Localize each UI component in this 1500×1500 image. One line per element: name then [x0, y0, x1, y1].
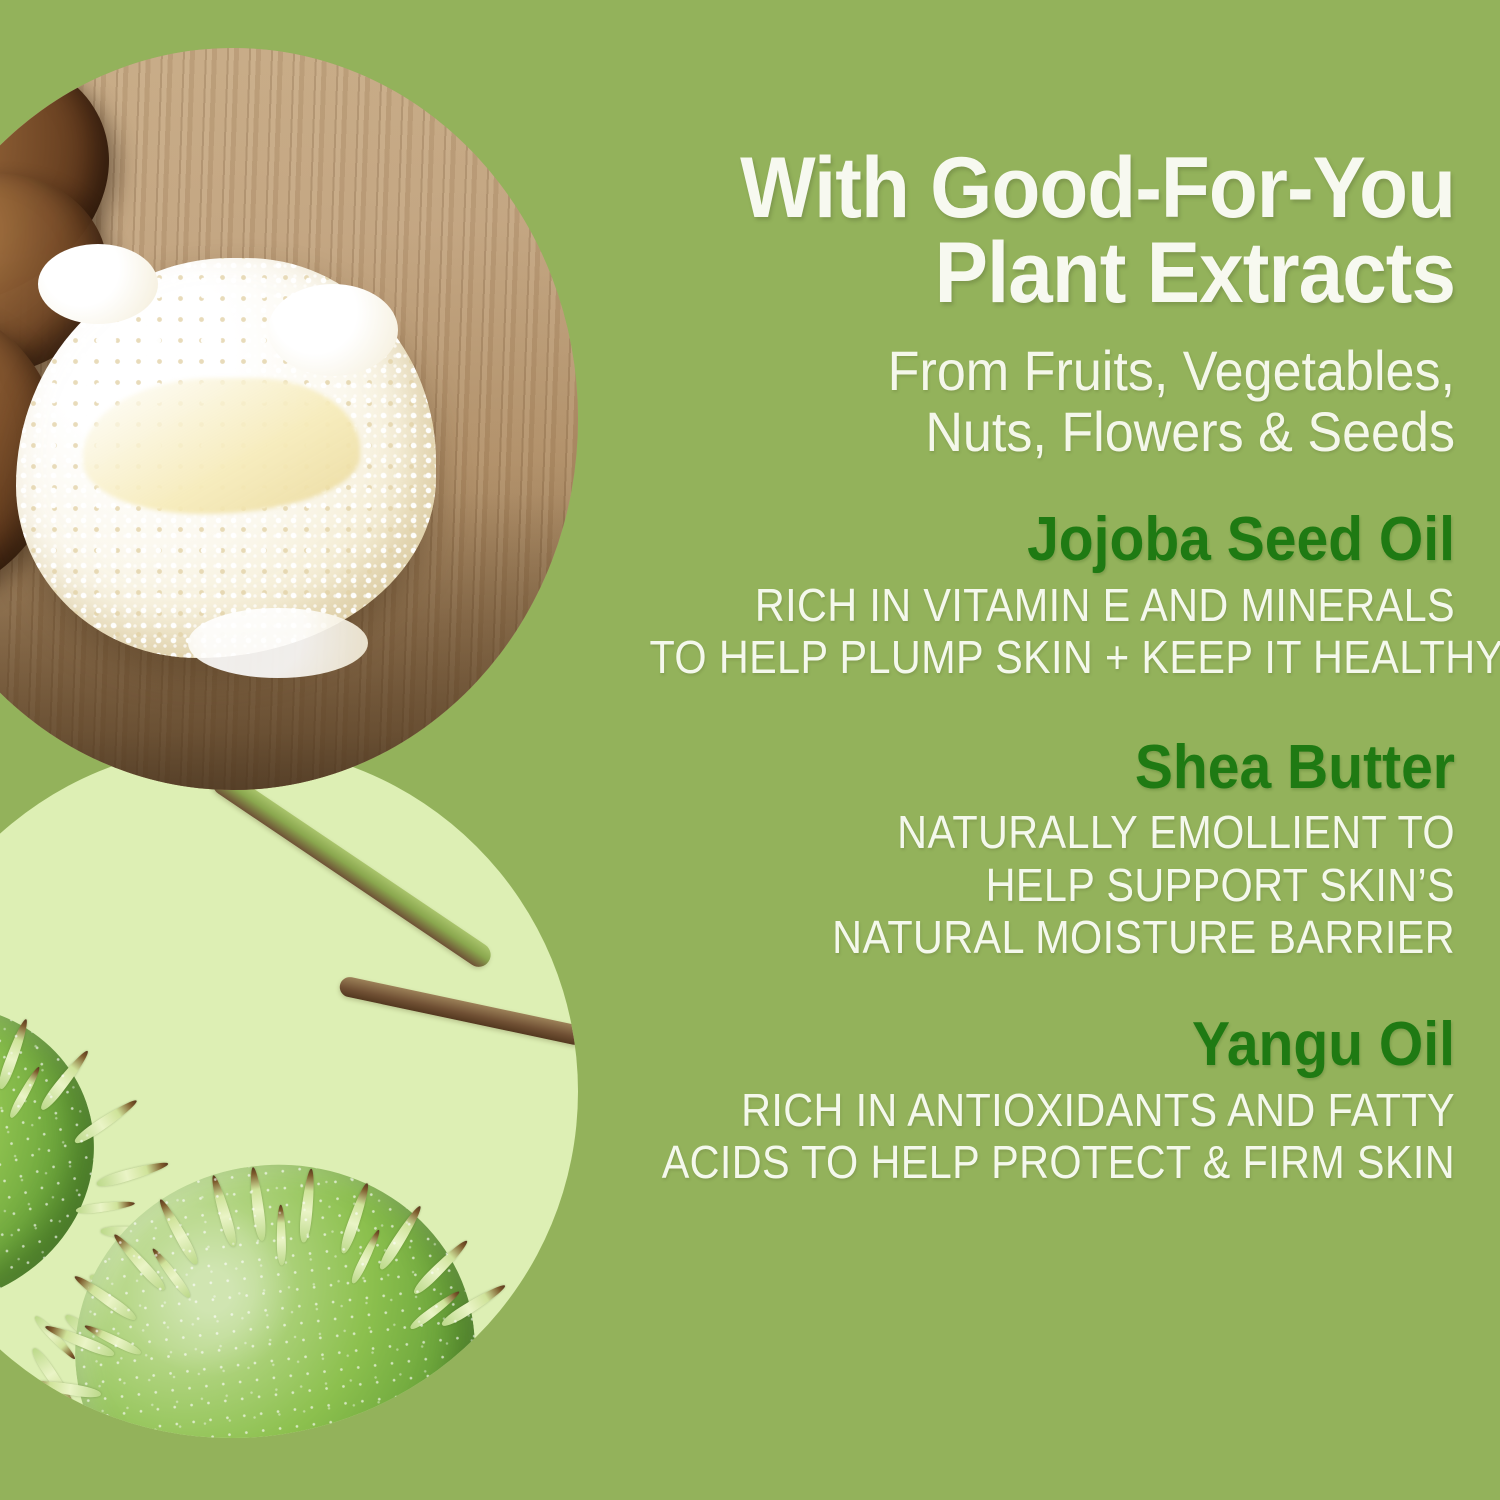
ingredient-jojoba-seed-oil: Jojoba Seed Oil RICH IN VITAMIN E AND MI…: [560, 508, 1455, 683]
page-subtitle: From Fruits, Vegetables, Nuts, Flowers &…: [623, 340, 1455, 462]
ingredient-description: RICH IN VITAMIN E AND MINERALS TO HELP P…: [650, 579, 1456, 684]
ingredient-description: RICH IN ANTIOXIDANTS AND FATTY ACIDS TO …: [650, 1084, 1456, 1189]
ingredient-description-line: RICH IN ANTIOXIDANTS AND FATTY: [650, 1084, 1456, 1136]
yangu-fruit-photo-circle: [0, 745, 578, 1438]
ingredient-name: Jojoba Seed Oil: [632, 508, 1455, 572]
ingredient-yangu-oil: Yangu Oil RICH IN ANTIOXIDANTS AND FATTY…: [560, 1013, 1455, 1188]
ingredient-description-line: TO HELP PLUMP SKIN + KEEP IT HEALTHY: [650, 631, 1456, 683]
ingredient-description-line: NATURAL MOISTURE BARRIER: [650, 911, 1456, 963]
headline-line-1: With Good-For-You: [623, 146, 1455, 231]
ingredient-description-line: RICH IN VITAMIN E AND MINERALS: [650, 579, 1456, 631]
shea-butter-photo-circle: [0, 48, 578, 790]
ingredient-name: Yangu Oil: [632, 1013, 1455, 1077]
copy-column: With Good-For-You Plant Extracts From Fr…: [560, 0, 1455, 1500]
shea-butter-crumb-3: [188, 608, 368, 678]
ingredient-shea-butter: Shea Butter NATURALLY EMOLLIENT TO HELP …: [560, 736, 1455, 964]
headline-line-2: Plant Extracts: [623, 231, 1455, 316]
branch-stem-secondary-icon: [338, 975, 578, 1047]
branch-stem-icon: [208, 767, 495, 971]
subtitle-line-2: Nuts, Flowers & Seeds: [623, 401, 1455, 462]
page-title: With Good-For-You Plant Extracts: [623, 146, 1455, 316]
shea-butter-crumb-1: [38, 244, 158, 324]
ingredient-infographic: With Good-For-You Plant Extracts From Fr…: [0, 0, 1500, 1500]
spiky-fruit-main: [54, 1142, 496, 1438]
ingredient-description-line: ACIDS TO HELP PROTECT & FIRM SKIN: [650, 1136, 1456, 1188]
ingredient-description-line: HELP SUPPORT SKIN’S: [650, 859, 1456, 911]
ingredient-name: Shea Butter: [632, 736, 1455, 800]
shea-butter-crumb-2: [268, 284, 398, 376]
ingredient-description-line: NATURALLY EMOLLIENT TO: [650, 806, 1456, 858]
subtitle-line-1: From Fruits, Vegetables,: [623, 340, 1455, 401]
ingredient-description: NATURALLY EMOLLIENT TO HELP SUPPORT SKIN…: [650, 806, 1456, 963]
spiky-fruit-illustration: [0, 745, 578, 1438]
